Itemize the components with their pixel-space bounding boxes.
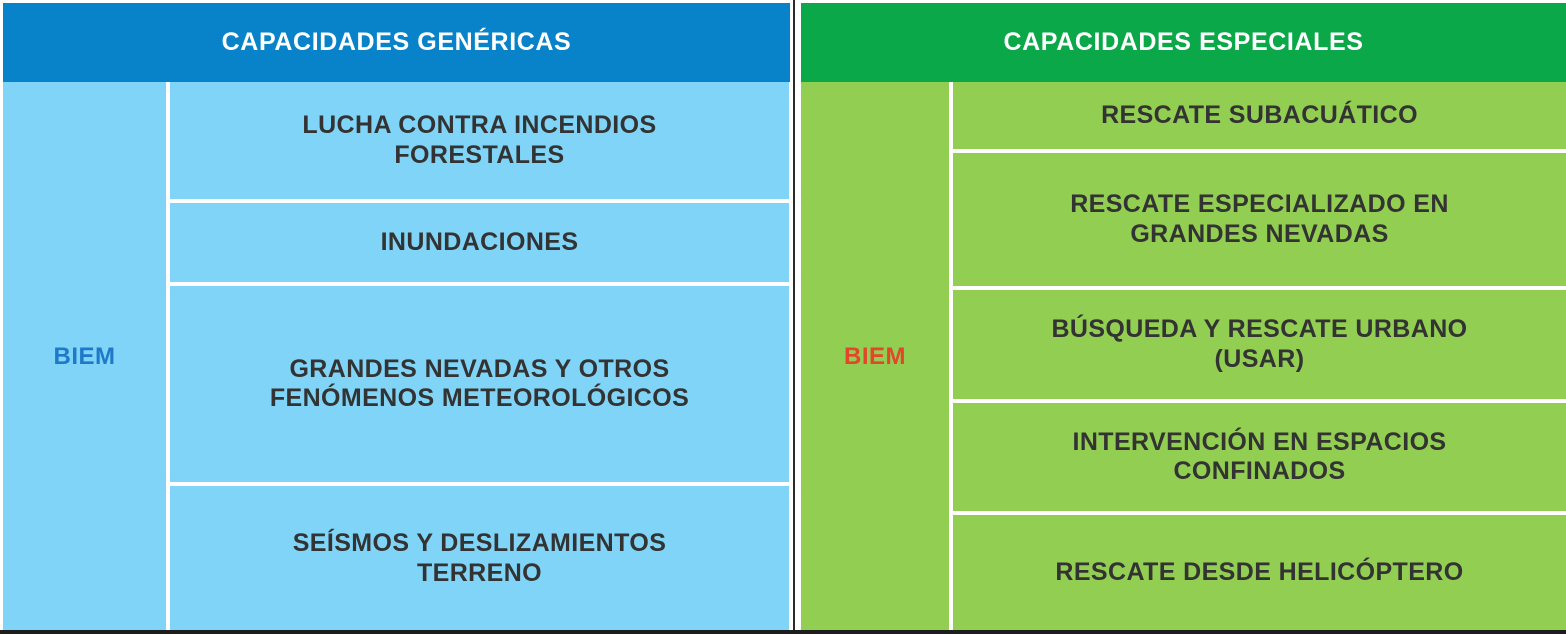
table-row: INTERVENCIÓN EN ESPACIOS CONFINADOS <box>953 399 1566 511</box>
capability-line-1: GRANDES NEVADAS Y OTROS <box>270 355 689 385</box>
capability-line-2: (USAR) <box>1051 345 1467 375</box>
generic-capabilities-body: BIEM LUCHA CONTRA INCENDIOS FORESTALES I… <box>0 82 792 634</box>
capability-line-1: INUNDACIONES <box>381 228 579 258</box>
capability-line-1: RESCATE DESDE HELICÓPTERO <box>1055 558 1463 588</box>
capability-line-1: SEÍSMOS Y DESLIZAMIENTOS <box>293 529 667 559</box>
capability-line-2: FENÓMENOS METEOROLÓGICOS <box>270 384 689 414</box>
capability-line-1: RESCATE SUBACUÁTICO <box>1101 101 1418 131</box>
special-capabilities-header: CAPACIDADES ESPECIALES <box>798 0 1566 82</box>
generic-capabilities-list: LUCHA CONTRA INCENDIOS FORESTALES INUNDA… <box>170 82 789 631</box>
panel-divider <box>793 0 795 634</box>
capability-line-1: LUCHA CONTRA INCENDIOS <box>302 111 656 141</box>
special-capabilities-list: RESCATE SUBACUÁTICO RESCATE ESPECIALIZAD… <box>953 82 1566 631</box>
generic-capabilities-table: CAPACIDADES GENÉRICAS BIEM LUCHA CONTRA … <box>0 0 792 634</box>
special-capabilities-table: CAPACIDADES ESPECIALES BIEM RESCATE SUBA… <box>798 0 1566 634</box>
table-row: RESCATE SUBACUÁTICO <box>953 82 1566 149</box>
capability-line-2: CONFINADOS <box>1072 457 1446 487</box>
capabilities-comparison-diagram: CAPACIDADES GENÉRICAS BIEM LUCHA CONTRA … <box>0 0 1566 634</box>
table-row: BÚSQUEDA Y RESCATE URBANO (USAR) <box>953 286 1566 399</box>
capability-line-1: INTERVENCIÓN EN ESPACIOS <box>1072 428 1446 458</box>
capability-line-1: BÚSQUEDA Y RESCATE URBANO <box>1051 315 1467 345</box>
capability-line-2: FORESTALES <box>302 141 656 171</box>
table-row: RESCATE ESPECIALIZADO EN GRANDES NEVADAS <box>953 149 1566 286</box>
table-row: SEÍSMOS Y DESLIZAMIENTOS TERRENO <box>170 482 789 631</box>
bottom-edge-strip-right <box>798 630 1566 634</box>
capability-line-2: TERRENO <box>293 559 667 589</box>
table-row: RESCATE DESDE HELICÓPTERO <box>953 511 1566 631</box>
table-row: GRANDES NEVADAS Y OTROS FENÓMENOS METEOR… <box>170 282 789 482</box>
special-capabilities-body: BIEM RESCATE SUBACUÁTICO RESCATE ESPECIA… <box>798 82 1566 634</box>
table-row: LUCHA CONTRA INCENDIOS FORESTALES <box>170 82 789 199</box>
generic-capabilities-header: CAPACIDADES GENÉRICAS <box>0 0 792 82</box>
special-unit-label: BIEM <box>801 82 953 631</box>
capability-line-2: GRANDES NEVADAS <box>1070 220 1449 250</box>
generic-unit-label: BIEM <box>3 82 170 631</box>
capability-line-1: RESCATE ESPECIALIZADO EN <box>1070 190 1449 220</box>
table-row: INUNDACIONES <box>170 199 789 282</box>
